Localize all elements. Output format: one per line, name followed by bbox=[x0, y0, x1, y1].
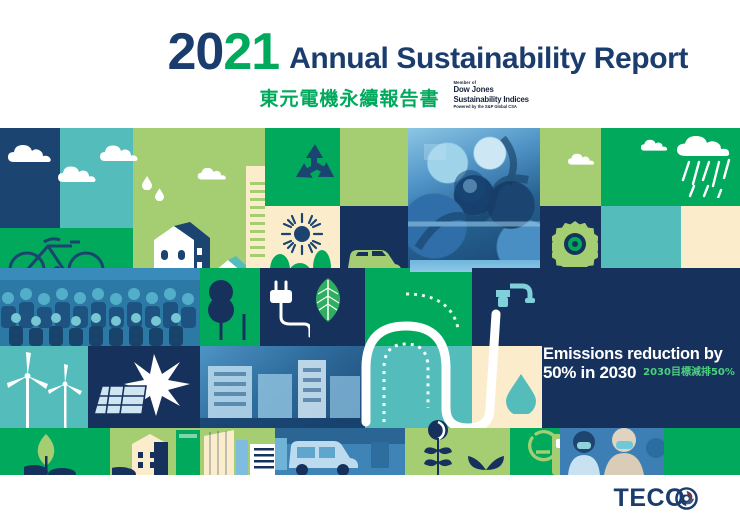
year-first-half: 20 bbox=[167, 23, 223, 81]
page-title: Annual Sustainability Report bbox=[289, 44, 688, 77]
tree-icon bbox=[206, 274, 256, 340]
emissions-line-1: Emissions reduction by bbox=[543, 345, 740, 363]
gear-icon bbox=[552, 221, 598, 267]
rain-cloud-icon bbox=[677, 136, 737, 198]
teco-logo: TECO bbox=[614, 484, 698, 513]
group-photo bbox=[0, 268, 200, 346]
lime-tile-a bbox=[340, 128, 408, 206]
recycle-icon bbox=[290, 140, 340, 192]
cloud-icon bbox=[568, 152, 600, 166]
green-tile-bottom-right bbox=[664, 428, 740, 475]
title-block: 2021 Annual Sustainability Report 東元電機永續… bbox=[167, 28, 688, 111]
navy-tile-emissions-top bbox=[542, 268, 740, 346]
tree-icon bbox=[24, 430, 76, 475]
water-drop-icon bbox=[142, 176, 152, 190]
emissions-chinese: 2030目標減排50% bbox=[643, 363, 735, 378]
factory-robot-photo bbox=[408, 128, 540, 268]
teco-electric-van-photo bbox=[275, 428, 405, 475]
djsi-powered-line: Powered by the S&P Global CSA bbox=[453, 105, 528, 110]
djsi-name-line: Dow Jones bbox=[453, 85, 528, 94]
cloud-icon bbox=[58, 164, 104, 184]
leaf-icon bbox=[466, 440, 508, 472]
emissions-line-2: 50% in 2030 bbox=[543, 363, 636, 382]
djsi-badge: Member of Dow Jones Sustainability Indic… bbox=[453, 80, 528, 110]
year-second-half: 21 bbox=[223, 23, 279, 81]
cover-footer: TECO bbox=[0, 475, 740, 523]
lime-tile-b bbox=[540, 128, 601, 206]
chinese-title: 東元電機永續報告書 bbox=[259, 84, 439, 111]
leaf-icon bbox=[308, 276, 348, 324]
masked-people-photo bbox=[560, 428, 664, 475]
cloud-icon bbox=[100, 143, 148, 163]
data-center-photo bbox=[200, 346, 365, 428]
subtitle-row: 東元電機永續報告書 Member of Dow Jones Sustainabi… bbox=[167, 80, 688, 110]
sustainability-report-cover: 2021 Annual Sustainability Report 東元電機永續… bbox=[0, 0, 740, 523]
teco-swirl-icon bbox=[675, 487, 698, 510]
emissions-callout: Emissions reduction by 50% in 20302030目標… bbox=[543, 345, 740, 405]
water-pipe-icon bbox=[360, 272, 540, 428]
cloud-icon bbox=[8, 142, 60, 164]
title-row: 2021 Annual Sustainability Report bbox=[167, 28, 688, 77]
cover-collage: Emissions reduction by 50% in 20302030目標… bbox=[0, 128, 740, 475]
flower-icon bbox=[420, 420, 456, 475]
wind-turbine-icon bbox=[4, 350, 88, 428]
solar-panel-icon bbox=[92, 350, 198, 426]
report-year: 2021 bbox=[167, 28, 279, 77]
cloud-icon bbox=[640, 138, 674, 152]
cover-header: 2021 Annual Sustainability Report 東元電機永續… bbox=[0, 0, 740, 128]
cloud-icon bbox=[196, 166, 234, 181]
djsi-indices-line: Sustainability Indices bbox=[453, 95, 528, 104]
power-plug-icon bbox=[266, 278, 310, 340]
